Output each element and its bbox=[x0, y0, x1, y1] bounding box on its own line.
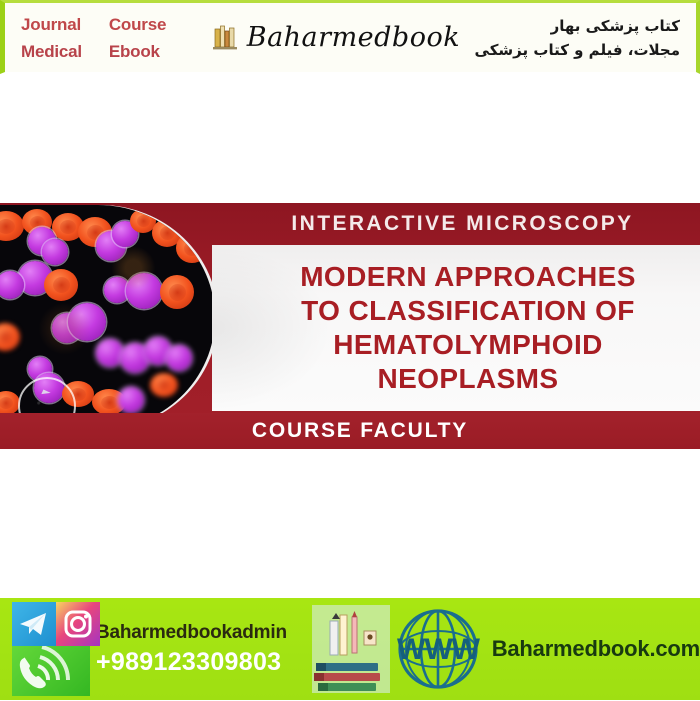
banner-title-panel: MODERN APPROACHES TO CLASSIFICATION OF H… bbox=[212, 245, 700, 411]
banner-title-line-3: HEMATOLYMPHOID bbox=[300, 328, 636, 362]
instagram-icon[interactable] bbox=[56, 602, 100, 646]
svg-text:WWW: WWW bbox=[397, 633, 481, 666]
brand-name: Baharmedbook bbox=[247, 22, 460, 53]
phone-number[interactable]: +989123309803 bbox=[96, 646, 308, 678]
banner-faculty-bar: COURSE FACULTY bbox=[0, 413, 700, 449]
nav-item-journal[interactable]: Journal bbox=[21, 11, 109, 38]
banner-title-line-2: TO CLASSIFICATION OF bbox=[300, 294, 636, 328]
www-globe-icon[interactable]: WWW bbox=[390, 603, 486, 695]
nav-item-course[interactable]: Course bbox=[109, 11, 197, 38]
social-icon-row-top bbox=[12, 602, 90, 646]
whatsapp-phone-icon[interactable] bbox=[12, 646, 90, 696]
contact-footer: Baharmedbookadmin +989123309803 bbox=[0, 598, 700, 700]
nav-item-ebook[interactable]: Ebook bbox=[109, 38, 197, 65]
cursor-pointer-icon bbox=[41, 390, 50, 398]
social-icon-column bbox=[0, 598, 90, 700]
brand-logo[interactable]: Baharmedbook bbox=[197, 22, 460, 53]
banner-faculty-label: COURSE FACULTY bbox=[232, 419, 468, 443]
persian-line-2: مجلات، فیلم و کتاب پزشکی bbox=[460, 38, 680, 62]
telegram-icon[interactable] bbox=[12, 602, 56, 646]
banner-title-line-4: NEOPLASMS bbox=[300, 362, 636, 396]
banner-title: MODERN APPROACHES TO CLASSIFICATION OF H… bbox=[276, 260, 636, 396]
persian-line-1: کتاب پزشکی بهار bbox=[460, 14, 680, 38]
books-icon bbox=[211, 23, 241, 53]
microscopy-image bbox=[0, 205, 215, 430]
course-banner[interactable]: INTERACTIVE MICROSCOPY MODERN APPROACHES… bbox=[0, 203, 700, 449]
footer-contact-block: Baharmedbookadmin +989123309803 bbox=[0, 598, 308, 700]
nav-item-medical[interactable]: Medical bbox=[21, 38, 109, 65]
header-nav: Journal Course Medical Ebook bbox=[5, 11, 197, 65]
header-persian-tagline: کتاب پزشکی بهار مجلات، فیلم و کتاب پزشکی bbox=[460, 14, 696, 62]
footer-contact-text: Baharmedbookadmin +989123309803 bbox=[90, 598, 308, 700]
books-and-pencils-icon bbox=[312, 605, 390, 693]
banner-title-line-1: MODERN APPROACHES bbox=[300, 260, 636, 294]
website-url[interactable]: Baharmedbook.com bbox=[492, 636, 700, 662]
site-header: Journal Course Medical Ebook Baharmedboo… bbox=[0, 0, 700, 74]
admin-handle[interactable]: Baharmedbookadmin bbox=[96, 620, 308, 646]
banner-kicker-bar: INTERACTIVE MICROSCOPY bbox=[215, 203, 700, 245]
banner-kicker-text: INTERACTIVE MICROSCOPY bbox=[281, 212, 633, 236]
footer-website-block: WWW Baharmedbook.com bbox=[308, 598, 700, 700]
